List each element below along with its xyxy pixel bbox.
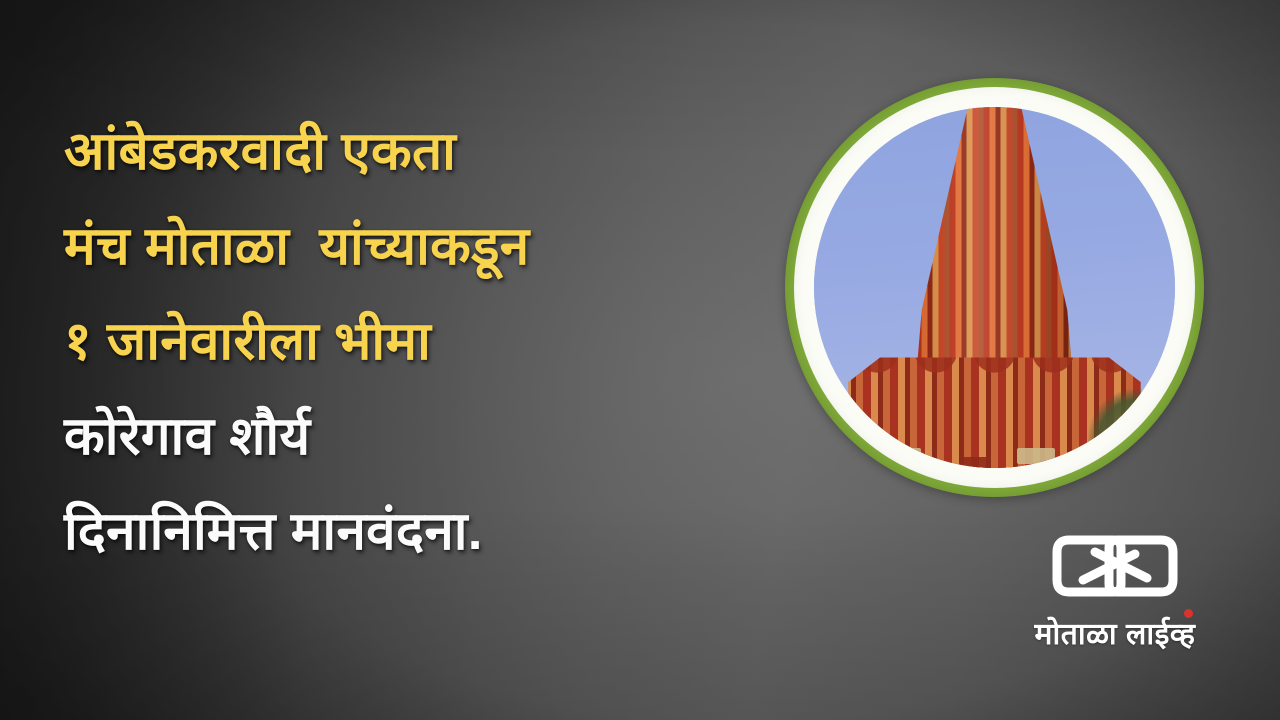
headline-line-3: १ जानेवारीला भीमा	[64, 294, 784, 389]
foliage	[1088, 389, 1175, 468]
photo-image-area	[814, 107, 1175, 468]
headline-line-4: कोरेगाव शौर्य	[64, 389, 784, 484]
base-window-left	[886, 448, 921, 465]
headline-block: आंबेडकरवादी एकता मंच मोताळा यांच्याकडून …	[64, 104, 784, 579]
headline-line-2: मंच मोताळा यांच्याकडून	[64, 199, 784, 294]
base-window-right	[1017, 448, 1055, 464]
brand-watermark: मोताळा लाईव्ह	[1006, 524, 1224, 653]
headline-line-1: आंबेडकरवादी एकता	[64, 104, 784, 199]
victory-pillar-photo	[785, 78, 1204, 497]
poster-canvas: आंबेडकरवादी एकता मंच मोताळा यांच्याकडून …	[0, 0, 1280, 720]
infinity-knot-logo-icon	[1049, 524, 1181, 608]
brand-live-dot-icon	[1184, 609, 1193, 618]
photo-inner-white-ring	[794, 87, 1195, 488]
base-doorway	[963, 457, 992, 468]
brand-name: मोताळा लाईव्ह	[1035, 618, 1196, 651]
brand-name-wrap: मोताळा लाईव्ह	[1035, 612, 1196, 653]
headline-line-5: दिनानिमित्त मानवंदना.	[64, 484, 784, 579]
